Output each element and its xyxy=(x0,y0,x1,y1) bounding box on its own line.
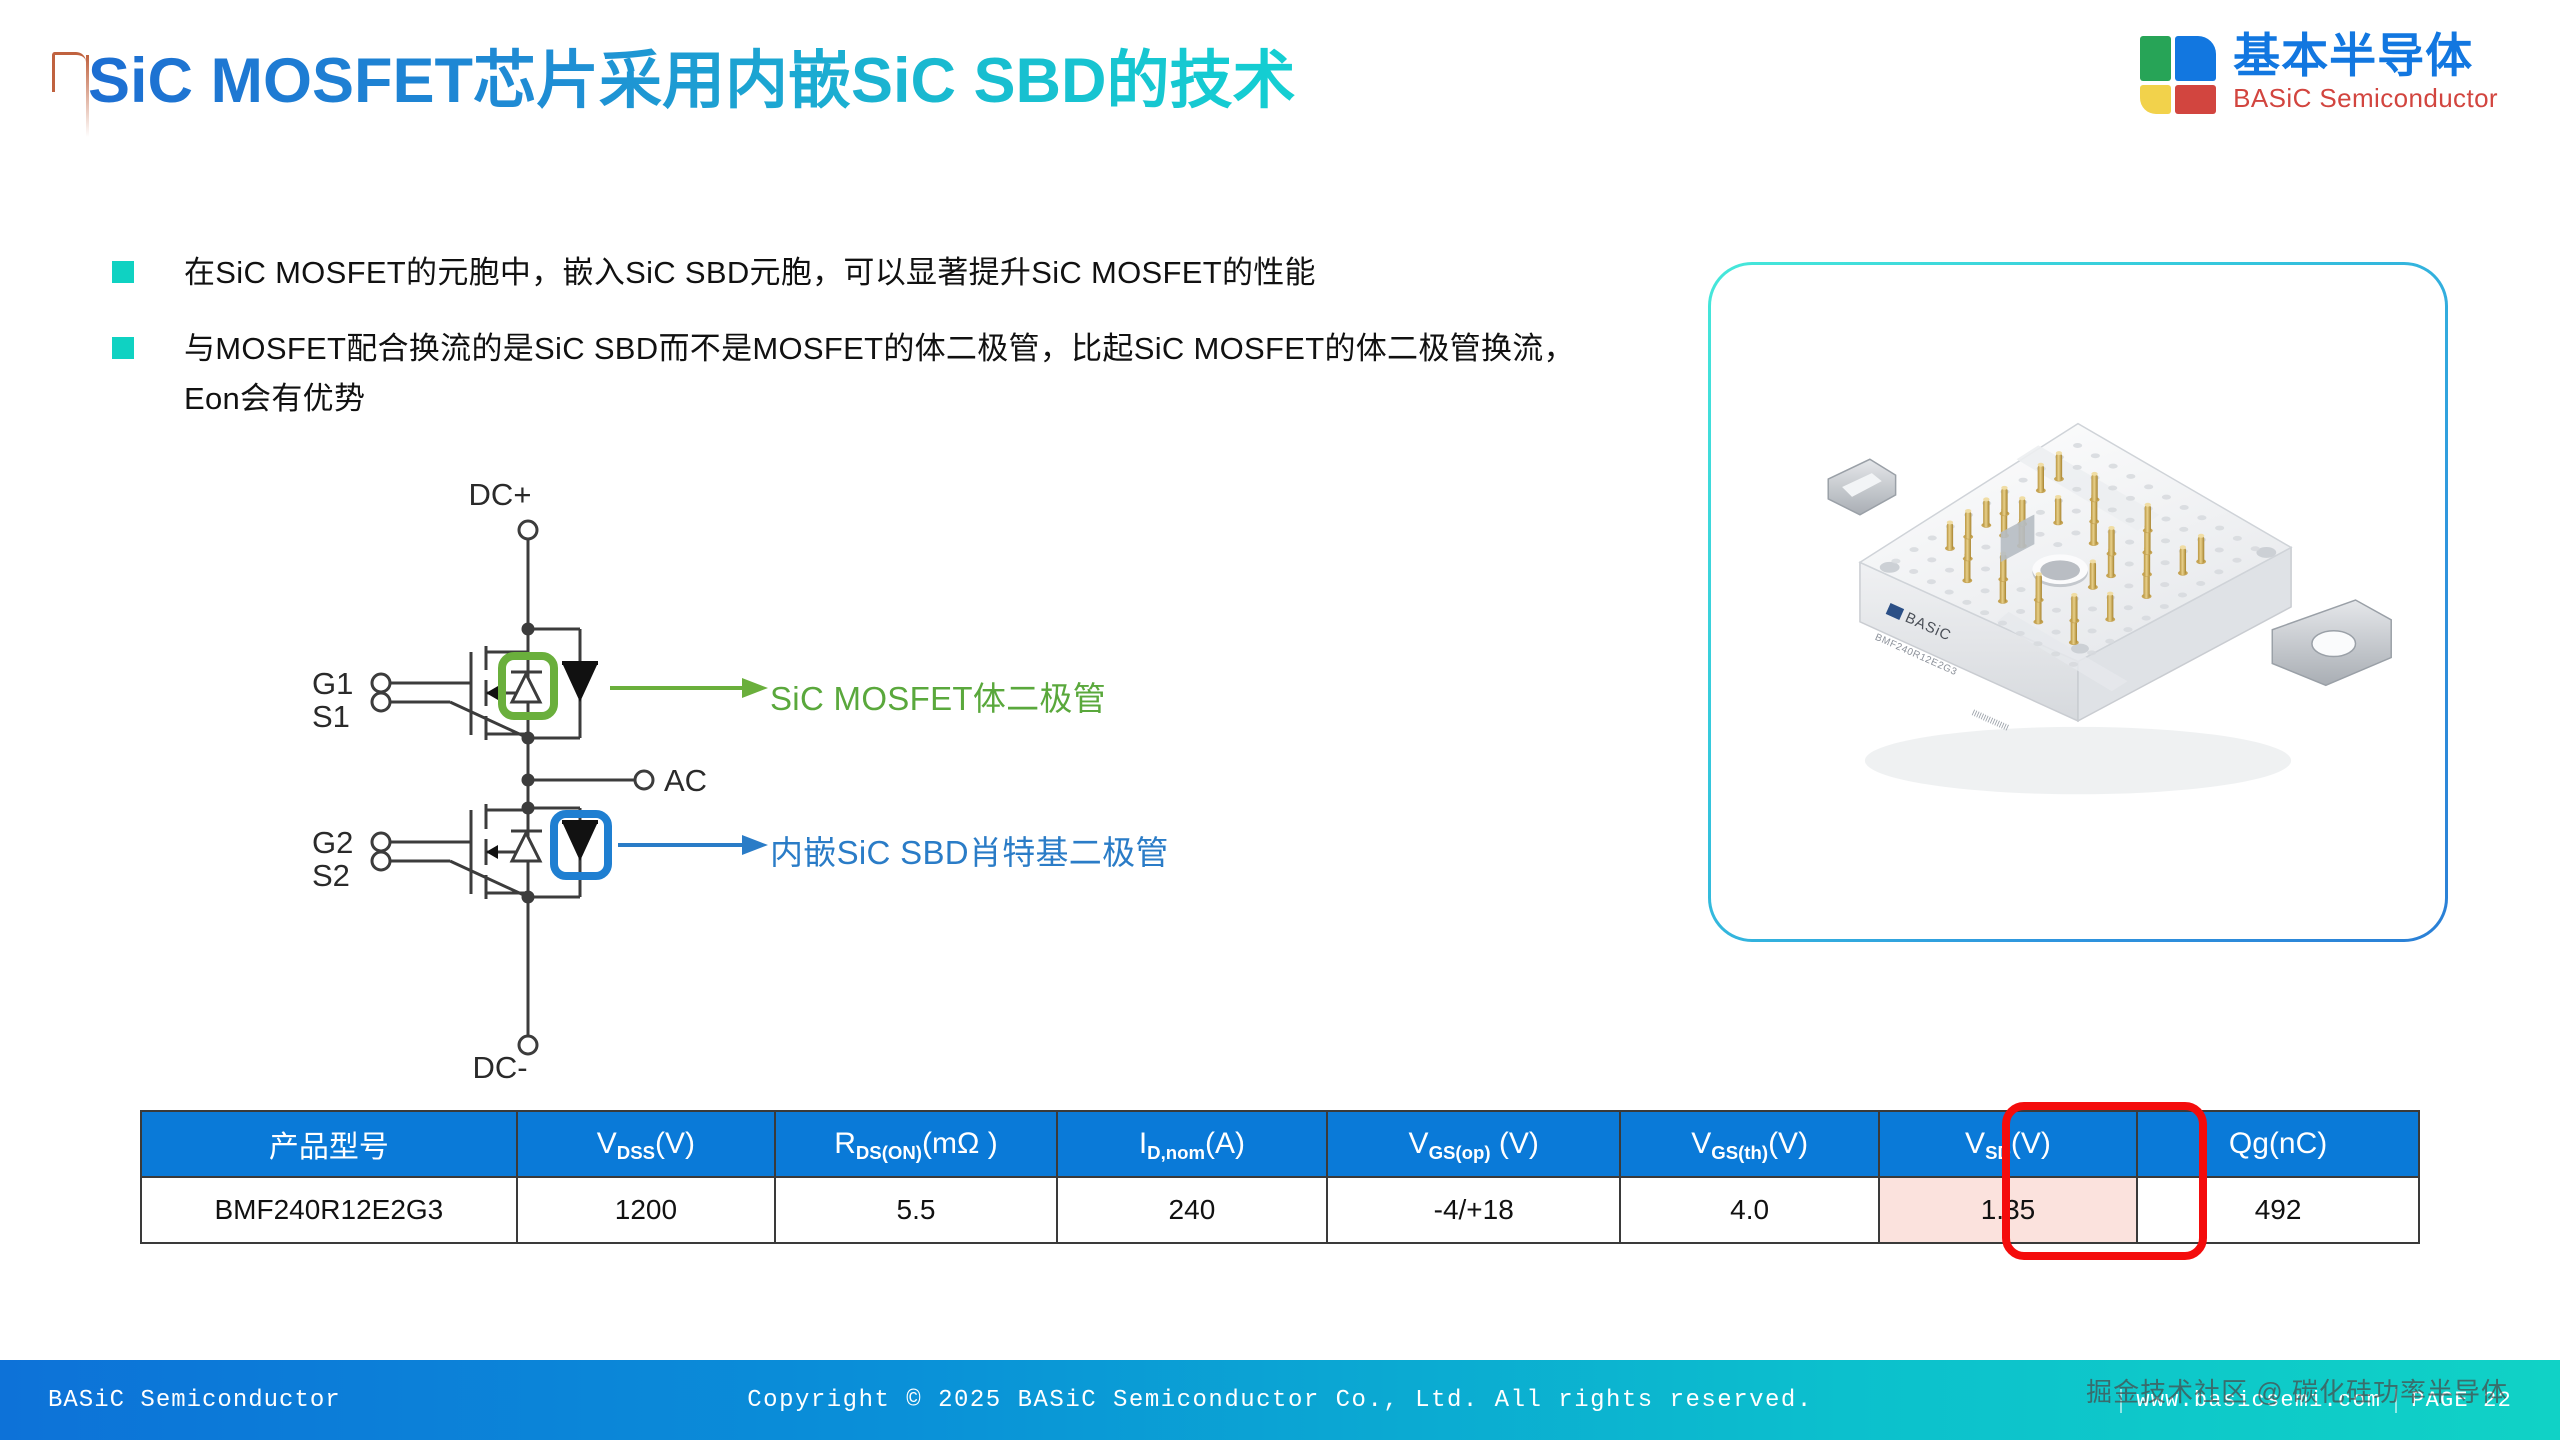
bullet-square-icon xyxy=(112,337,134,359)
circuit-label-dc-plus: DC+ xyxy=(469,480,532,512)
circuit-label-dc-minus: DC- xyxy=(472,1050,527,1080)
spec-table: 产品型号 VDSS(V) RDS(ON)(mΩ ) ID,nom(A) VGS(… xyxy=(140,1110,2420,1244)
cell-vsd: 1.35 xyxy=(1879,1177,2137,1243)
col-header-vgsth: VGS(th)(V) xyxy=(1620,1111,1878,1177)
cell-qg: 492 xyxy=(2137,1177,2419,1243)
logo-tile-red xyxy=(2175,85,2216,114)
cell-idnom: 240 xyxy=(1057,1177,1327,1243)
circuit-label-s2: S2 xyxy=(312,858,350,893)
col-header-qg: Qg(nC) xyxy=(2137,1111,2419,1177)
annotation-body-diode: SiC MOSFET体二极管 xyxy=(770,672,1106,720)
bullet-square-icon xyxy=(112,261,134,283)
product-photo-panel: BASiC BMF240R12E2G3 IIIIIIIIIIIIIIII xyxy=(1708,262,2448,942)
cell-rdson: 5.5 xyxy=(775,1177,1057,1243)
logo-name-en: BASiC Semiconductor xyxy=(2233,83,2498,114)
col-header-idnom: ID,nom(A) xyxy=(1057,1111,1327,1177)
logo-tiles-icon xyxy=(2140,36,2216,116)
table-row: BMF240R12E2G3 1200 5.5 240 -4/+18 4.0 1.… xyxy=(141,1177,2419,1243)
bullet-text: 与MOSFET配合换流的是SiC SBD而不是MOSFET的体二极管，比起SiC… xyxy=(184,324,1612,424)
product-photo: BASiC BMF240R12E2G3 IIIIIIIIIIIIIIII xyxy=(1711,265,2445,939)
list-item: 与MOSFET配合换流的是SiC SBD而不是MOSFET的体二极管，比起SiC… xyxy=(112,324,1612,424)
watermark: 掘金技术社区 @ 碳化硅功率半导体 xyxy=(2086,1372,2508,1409)
logo-name-cn: 基本半导体 xyxy=(2233,32,2498,80)
footer-brand: BASiC Semiconductor xyxy=(48,1387,341,1414)
bullet-list: 在SiC MOSFET的元胞中，嵌入SiC SBD元胞，可以显著提升SiC MO… xyxy=(112,248,1612,451)
slide-root: SiC MOSFET芯片采用内嵌SiC SBD的技术 基本半导体 BASiC S… xyxy=(0,0,2560,1440)
logo-tile-yellow xyxy=(2140,85,2171,114)
cell-vgsth: 4.0 xyxy=(1620,1177,1878,1243)
cell-model: BMF240R12E2G3 xyxy=(141,1177,517,1243)
page-title: SiC MOSFET芯片采用内嵌SiC SBD的技术 xyxy=(88,30,1296,121)
col-header-model: 产品型号 xyxy=(141,1111,517,1177)
circuit-label-ac: AC xyxy=(664,763,707,798)
annotation-embedded-sbd: 内嵌SiC SBD肖特基二极管 xyxy=(770,826,1169,874)
logo-tile-blue xyxy=(2175,36,2216,81)
circuit-label-g1: G1 xyxy=(312,666,353,701)
circuit-diagram: DC+ DC- AC G1 S1 G2 S2 xyxy=(250,480,1010,1080)
col-header-vdss: VDSS(V) xyxy=(517,1111,775,1177)
logo-tile-green xyxy=(2140,36,2171,81)
bullet-text: 在SiC MOSFET的元胞中，嵌入SiC SBD元胞，可以显著提升SiC MO… xyxy=(184,248,1316,298)
footer-copyright: Copyright © 2025 BASiC Semiconductor Co.… xyxy=(747,1387,1812,1414)
brand-logo: 基本半导体 BASiC Semiconductor xyxy=(2140,32,2498,116)
circuit-label-s1: S1 xyxy=(312,699,350,734)
col-header-vsd: VSD(V) xyxy=(1879,1111,2137,1177)
title-corner-mark-icon xyxy=(52,52,86,92)
svg-text:IIIIIIIIIIIIIIII: IIIIIIIIIIIIIIII xyxy=(1970,707,2010,732)
cell-vgsop: -4/+18 xyxy=(1327,1177,1621,1243)
col-header-vgsop: VGS(op) (V) xyxy=(1327,1111,1621,1177)
table-header-row: 产品型号 VDSS(V) RDS(ON)(mΩ ) ID,nom(A) VGS(… xyxy=(141,1111,2419,1177)
cell-vdss: 1200 xyxy=(517,1177,775,1243)
list-item: 在SiC MOSFET的元胞中，嵌入SiC SBD元胞，可以显著提升SiC MO… xyxy=(112,248,1612,298)
circuit-label-g2: G2 xyxy=(312,825,353,860)
col-header-rdson: RDS(ON)(mΩ ) xyxy=(775,1111,1057,1177)
